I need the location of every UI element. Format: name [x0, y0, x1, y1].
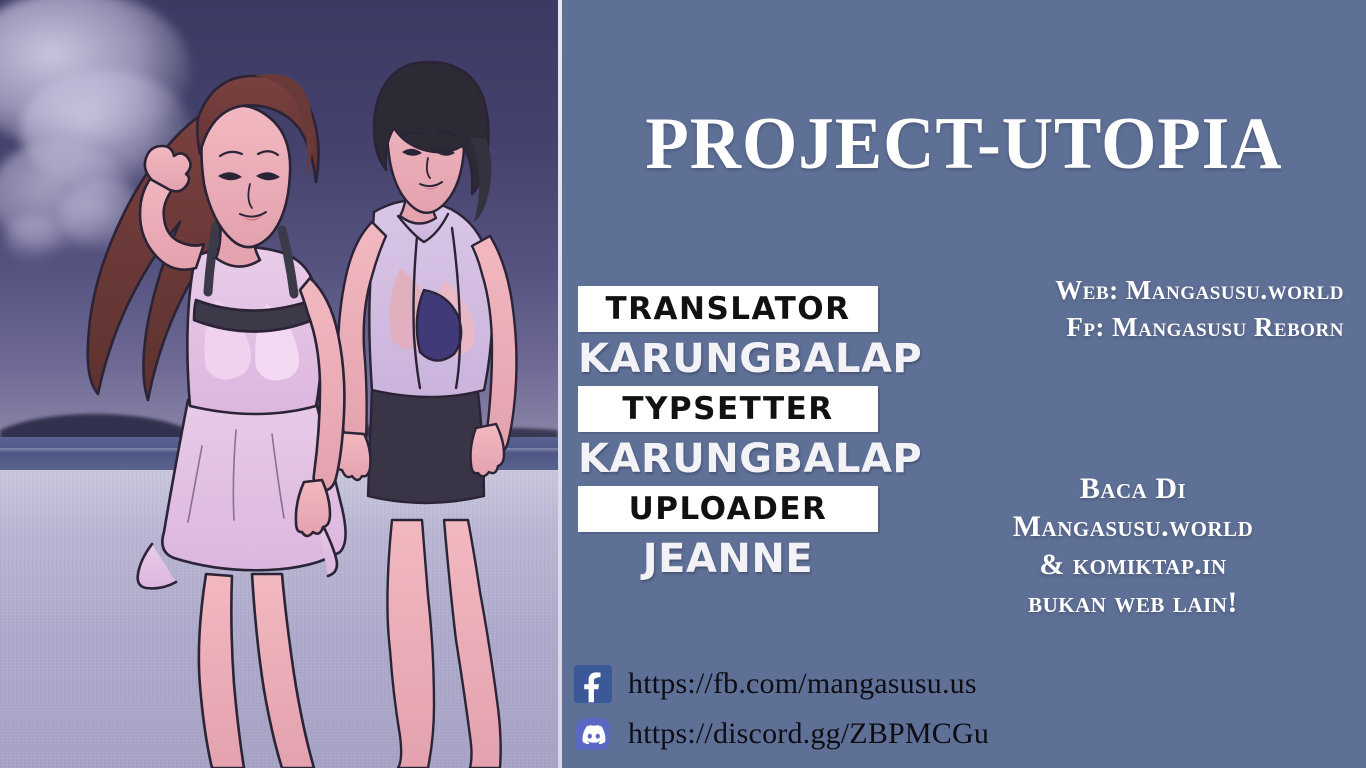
cover-artwork — [0, 0, 558, 768]
facebook-icon[interactable] — [574, 665, 612, 703]
credit-role-translator: TRANSLATOR — [578, 286, 878, 332]
credit-name-translator: KARUNGBALAP — [578, 332, 878, 386]
chapter-credits-page: PROJECT-UTOPIA TRANSLATOR KARUNGBALAP TY… — [0, 0, 1366, 768]
discord-url[interactable]: https://discord.gg/ZBPMCGu — [628, 717, 989, 751]
credits-list: TRANSLATOR KARUNGBALAP TYPSETTER KARUNGB… — [578, 286, 878, 586]
website-line: Web: Mangasusu.world — [892, 272, 1344, 309]
facebook-link-row[interactable]: https://fb.com/mangasusu.us — [574, 660, 1074, 708]
credits-panel: PROJECT-UTOPIA TRANSLATOR KARUNGBALAP TY… — [562, 0, 1366, 768]
social-links: https://fb.com/mangasusu.us https://disc… — [574, 660, 1074, 760]
website-info: Web: Mangasusu.world Fp: Mangasusu Rebor… — [892, 272, 1366, 346]
fanpage-line: Fp: Mangasusu Reborn — [892, 309, 1344, 346]
read-notice-line-1: Baca Di — [918, 470, 1348, 508]
figure-right — [334, 62, 517, 768]
read-notice-line-3: & komiktap.in — [918, 546, 1348, 584]
figure-left — [88, 74, 346, 768]
discord-link-row[interactable]: https://discord.gg/ZBPMCGu — [574, 710, 1074, 758]
read-notice-line-4: bukan web lain! — [918, 584, 1348, 622]
characters-illustration — [0, 0, 558, 768]
read-notice-line-2: Mangasusu.world — [918, 508, 1348, 546]
facebook-url[interactable]: https://fb.com/mangasusu.us — [628, 667, 977, 701]
page-title: PROJECT-UTOPIA — [578, 100, 1350, 188]
credit-role-uploader: UPLOADER — [578, 486, 878, 532]
read-notice: Baca Di Mangasusu.world & komiktap.in bu… — [918, 470, 1366, 622]
credit-role-typesetter: TYPSETTER — [578, 386, 878, 432]
credit-name-uploader: JEANNE — [578, 532, 878, 586]
credit-name-typesetter: KARUNGBALAP — [578, 432, 878, 486]
discord-icon[interactable] — [576, 718, 610, 750]
